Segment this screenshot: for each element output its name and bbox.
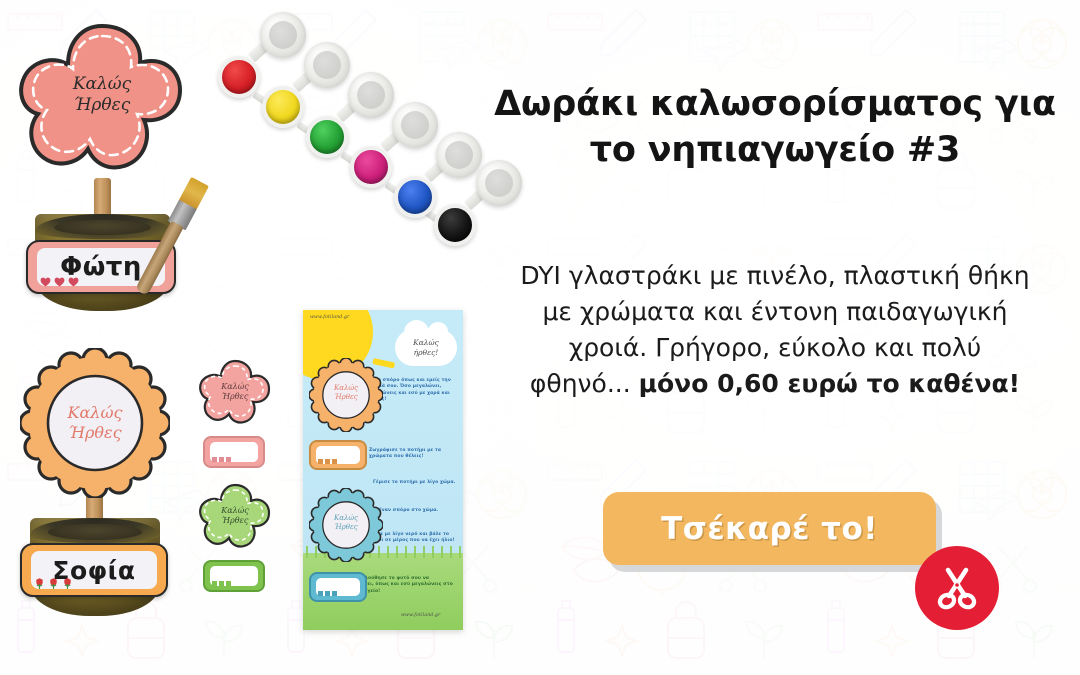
description-line-4: φθηνό... <box>530 369 639 398</box>
cta-area: Τσέκαρέ το! <box>603 492 936 565</box>
cutout-flower-pink: Καλώς Ήρθες <box>199 358 271 430</box>
square-deco-icon <box>332 591 337 596</box>
tulip-icon <box>48 577 59 590</box>
printable-sheet: Καλώς ήρθες! www.fotiland.gr …τον σπόρο … <box>303 310 463 630</box>
square-deco-icon <box>219 581 224 586</box>
square-deco-icon <box>318 591 323 596</box>
label-deco-tulips-sofia <box>34 577 73 590</box>
promo-banner: Καλώς Ήρθες Φώτη <box>0 0 1080 675</box>
sheet-label-blue <box>309 572 367 602</box>
heart-icon <box>40 277 51 287</box>
sheet-label-orange <box>309 440 367 470</box>
paint-lid-blue <box>436 132 482 178</box>
cloud-line-1: Καλώς <box>413 338 439 348</box>
description-line-1: DYI γλαστράκι με πινέλο, πλαστική θήκη <box>520 261 1029 290</box>
sheet-instruction-3: Γέμισε το ποτήρι με λίγο χώμα. <box>373 480 457 486</box>
paint-cup-blue <box>394 176 436 218</box>
paint-lid-red <box>260 12 306 58</box>
paint-cup-magenta <box>350 146 392 188</box>
square-deco-icon <box>318 459 323 464</box>
sheet-label-deco-blue <box>318 591 337 596</box>
pot-sofia: Καλώς Ήρθες Σοφία <box>14 348 194 648</box>
description-line-3: χροιά. Γρήγορο, εύκολο και πολύ <box>569 333 982 362</box>
cutout-label-deco-pink <box>212 457 231 462</box>
headline-line-1: Δωράκι καλωσορίσματος για <box>494 84 1056 124</box>
sheet-watermark-bottom: www.fotiland.gr <box>401 613 440 618</box>
sheet-label-deco-orange <box>318 459 337 464</box>
cutout-label-green <box>203 560 265 592</box>
square-deco-icon <box>226 457 231 462</box>
promo-text-panel: Δωράκι καλωσορίσματος για το νηπιαγωγείο… <box>490 0 1080 675</box>
square-deco-icon <box>212 457 217 462</box>
page-title: Δωράκι καλωσορίσματος για το νηπιαγωγείο… <box>490 82 1060 173</box>
square-deco-icon <box>212 581 217 586</box>
cloud-greeting: Καλώς ήρθες! <box>395 329 457 366</box>
sheet-scallop-blue: Καλώς Ήρθες <box>309 488 383 562</box>
name-label-sofia: Σοφία <box>20 543 168 597</box>
cutout-label-deco-green <box>212 581 231 586</box>
paint-cup-yellow <box>262 86 304 128</box>
cutout-flower-green: Καλώς Ήρθες <box>199 482 271 554</box>
paint-pot-strip <box>200 20 500 260</box>
paint-cup-black <box>434 204 476 246</box>
sheet-watermark-top: www.fotiland.gr <box>310 315 349 320</box>
flower-head-sofia: Καλώς Ήρθες <box>20 348 170 498</box>
paint-cup-green <box>306 116 348 158</box>
paint-lid-green <box>348 72 394 118</box>
cutout-strip: Καλώς Ήρθες Καλώς <box>197 358 283 628</box>
paint-cup-red <box>218 56 260 98</box>
description-line-2: με χρώματα και έντονη παιδαγωγική <box>542 297 1007 326</box>
flower-head-foti: Καλώς Ήρθες <box>18 18 186 193</box>
square-deco-icon <box>332 459 337 464</box>
paint-lid-magenta <box>392 102 438 148</box>
square-deco-icon <box>226 581 231 586</box>
promo-description: DYI γλαστράκι με πινέλο, πλαστική θήκη μ… <box>490 258 1060 402</box>
scissors-badge[interactable] <box>915 546 999 630</box>
sheet-scallop-orange: Καλώς Ήρθες <box>309 358 383 432</box>
tulip-icon <box>34 577 45 590</box>
headline-line-2: το νηπιαγωγείο #3 <box>590 130 960 170</box>
label-deco-hearts-foti <box>40 277 79 287</box>
heart-icon <box>54 277 65 287</box>
tulip-icon <box>62 577 73 590</box>
cutout-label-pink <box>203 436 265 468</box>
pot-soil-sofia <box>48 524 142 540</box>
speech-cloud: Καλώς ήρθες! <box>395 329 457 366</box>
pot-foti: Καλώς Ήρθες Φώτη <box>18 18 198 318</box>
check-it-out-button[interactable]: Τσέκαρέ το! <box>603 492 936 565</box>
scissors-icon <box>935 565 979 611</box>
cloud-line-2: ήρθες! <box>414 348 439 358</box>
paint-lid-yellow <box>304 42 350 88</box>
square-deco-icon <box>325 591 330 596</box>
square-deco-icon <box>325 459 330 464</box>
square-deco-icon <box>219 457 224 462</box>
heart-icon <box>68 277 79 287</box>
price-highlight: μόνο 0,60 ευρώ το καθένα! <box>639 369 1020 398</box>
sheet-instruction-2: Ζωγράφισε το ποτήρι με τα χρώματα που θέ… <box>369 448 457 461</box>
